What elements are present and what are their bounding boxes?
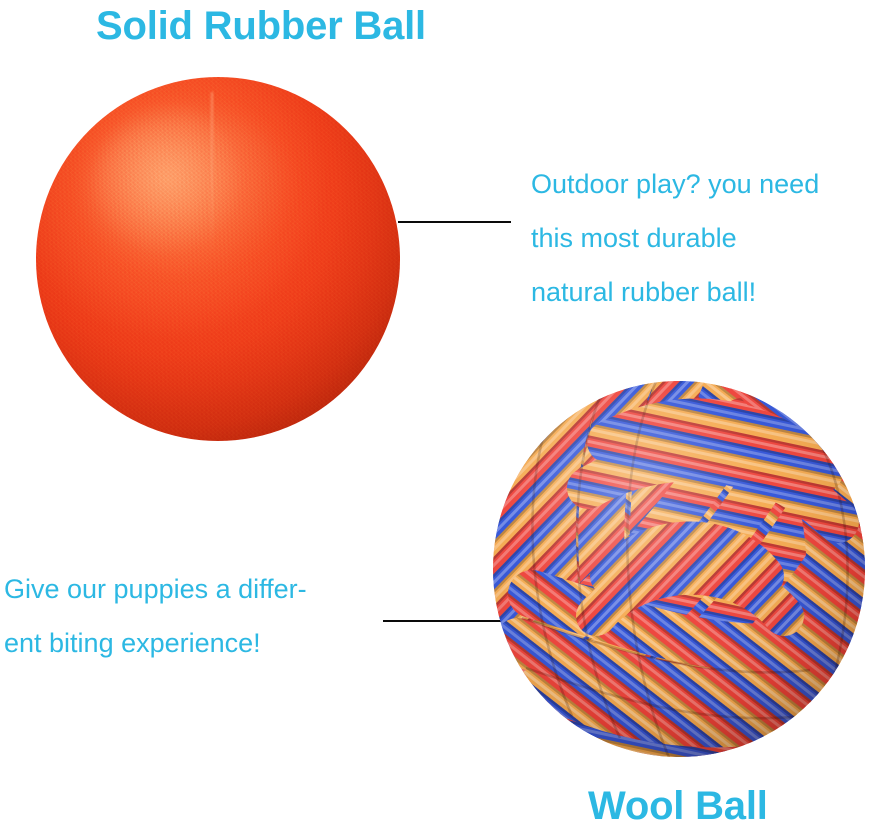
callout-rubber-ball: Outdoor play? you need this most durable…	[531, 157, 819, 319]
callout-wool-line-2: ent biting experience!	[4, 616, 307, 670]
page-title-solid-rubber-ball: Solid Rubber Ball	[96, 6, 426, 46]
rope-knot-body	[492, 380, 866, 758]
solid-rubber-ball-image	[36, 77, 400, 441]
page-title-wool-ball: Wool Ball	[588, 786, 768, 826]
callout-wool-ball: Give our puppies a differ- ent biting ex…	[4, 562, 307, 670]
leader-line-rubber-ball	[398, 221, 511, 223]
wool-rope-ball-image	[492, 380, 866, 758]
callout-rubber-line-1: Outdoor play? you need	[531, 157, 819, 211]
callout-rubber-line-3: natural rubber ball!	[531, 265, 819, 319]
callout-wool-line-1: Give our puppies a differ-	[4, 562, 307, 616]
product-feature-image: Solid Rubber Ball Outdoor play? you need…	[0, 0, 871, 840]
rubber-ball-shading	[36, 77, 400, 441]
callout-rubber-line-2: this most durable	[531, 211, 819, 265]
